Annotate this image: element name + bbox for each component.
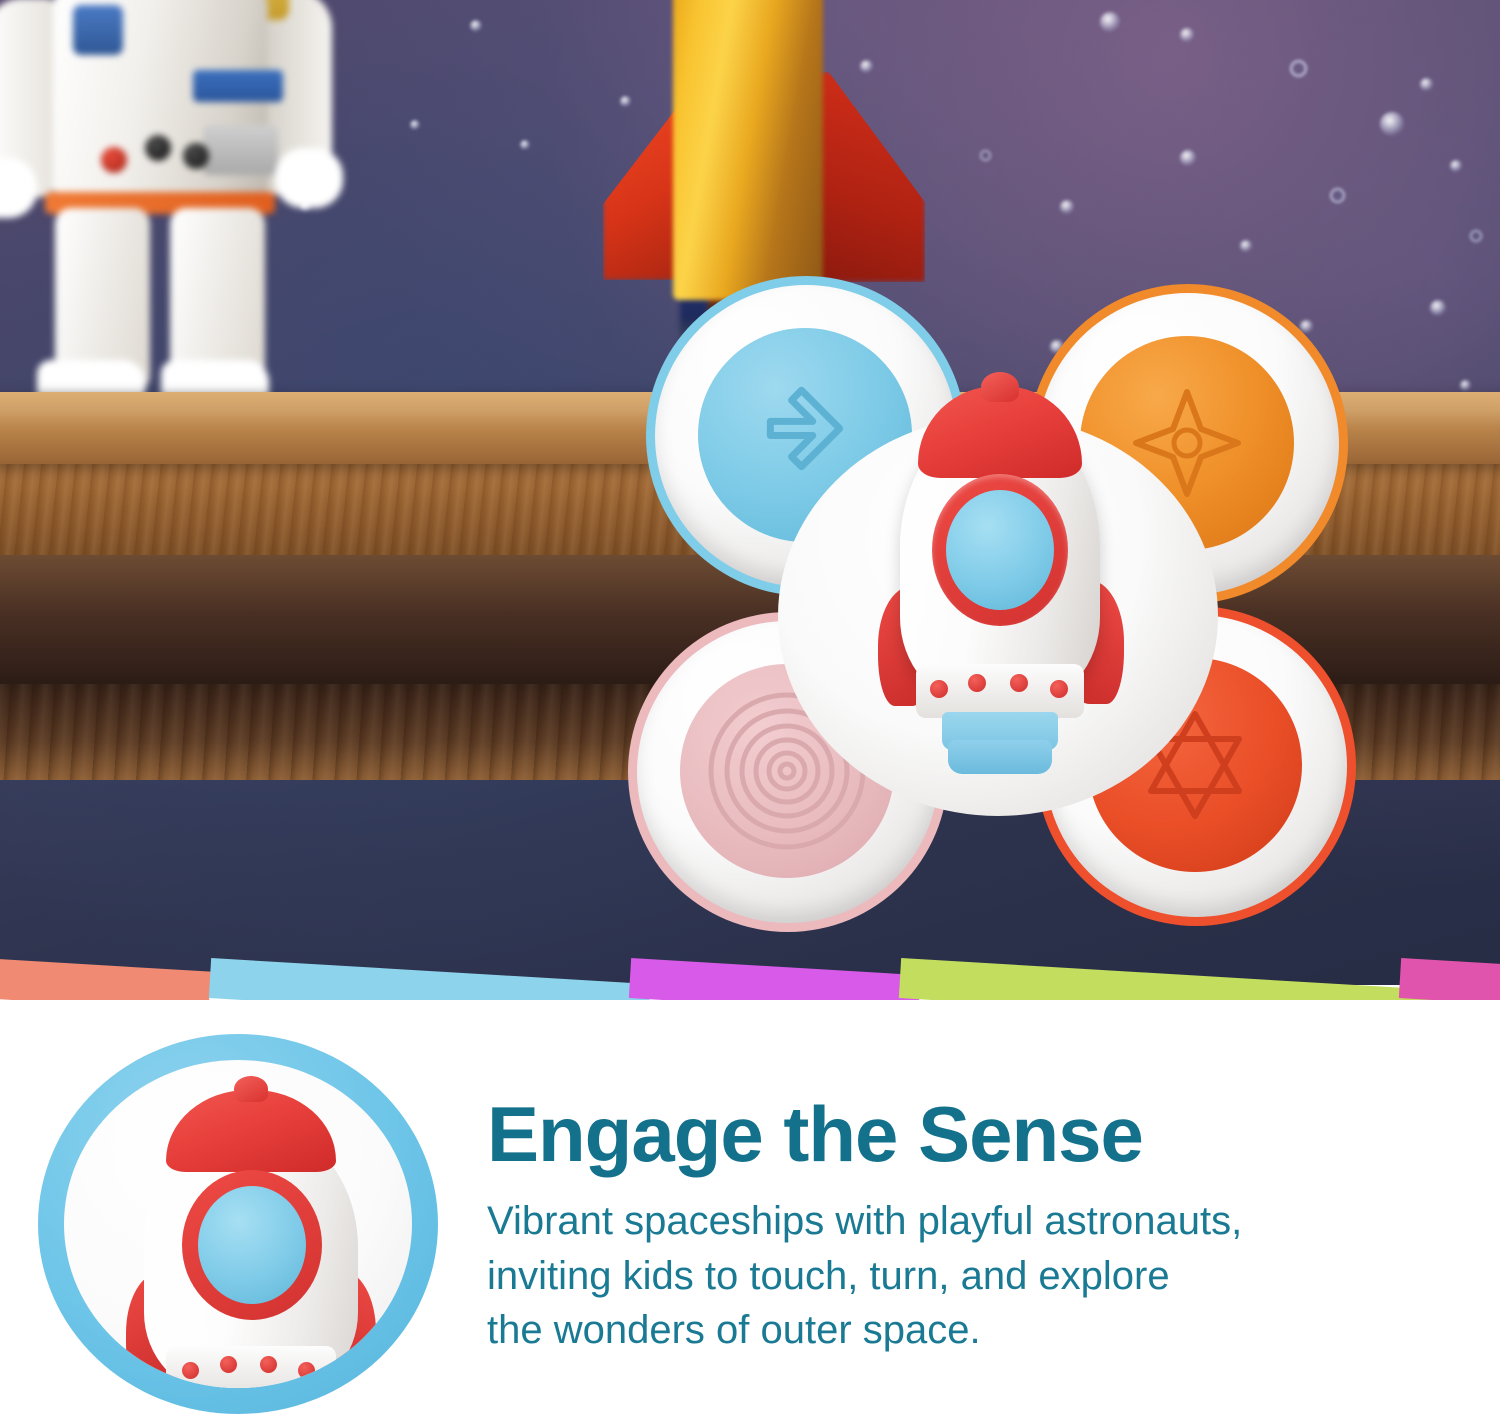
subcopy-line: the wonders of outer space. <box>487 1303 1462 1357</box>
rocket-porthole-ring <box>932 474 1068 626</box>
rocket-porthole <box>198 1186 306 1304</box>
rocket-badge-inner <box>64 1060 412 1388</box>
rocket-tip <box>234 1076 268 1102</box>
rocket-rivet <box>298 1362 315 1379</box>
rocket-badge <box>38 1034 438 1414</box>
subcopy-line: Vibrant spaceships with playful astronau… <box>487 1194 1462 1248</box>
subcopy: Vibrant spaceships with playful astronau… <box>487 1194 1462 1357</box>
rocket-rivet <box>968 674 986 692</box>
rocket-rivet <box>1050 680 1068 698</box>
rocket-rivet <box>220 1356 237 1373</box>
rocket-rivet <box>930 680 948 698</box>
astronaut-knob-red <box>101 147 127 173</box>
astronaut-knob-dark-2 <box>183 143 209 169</box>
rocket-fidget-spinner[interactable] <box>628 276 1368 936</box>
rocket-icon <box>126 1074 376 1388</box>
rocket-fin-right <box>813 72 925 282</box>
astronaut-knob-dark-1 <box>145 135 171 161</box>
rocket-rivet <box>182 1362 199 1379</box>
astronaut-glove-right <box>275 148 343 208</box>
marketing-copy: Engage the Sense Vibrant spaceships with… <box>487 1096 1462 1358</box>
bottom-info-panel: Engage the Sense Vibrant spaceships with… <box>0 1000 1500 1424</box>
astronaut-shoulder-patch <box>73 5 123 55</box>
rocket-porthole <box>946 490 1054 610</box>
astronaut-chest-patch <box>193 70 283 102</box>
rocket-icon[interactable] <box>876 368 1124 768</box>
astronaut-torso <box>53 0 268 210</box>
hero-photo <box>0 0 1500 985</box>
rocket-rivet <box>260 1356 277 1373</box>
headline: Engage the Sense <box>487 1096 1462 1172</box>
astronaut-control-panel <box>203 125 278 175</box>
rocket-porthole-ring <box>182 1170 322 1320</box>
rocket-tip <box>981 372 1019 402</box>
rocket-nose-cone <box>166 1090 336 1172</box>
rocket-body <box>673 0 823 300</box>
rocket-rivet <box>1010 674 1028 692</box>
astronaut-figure-prop <box>0 0 375 460</box>
rocket-thruster-lower <box>948 740 1052 774</box>
subcopy-line: inviting kids to touch, turn, and explor… <box>487 1249 1462 1303</box>
